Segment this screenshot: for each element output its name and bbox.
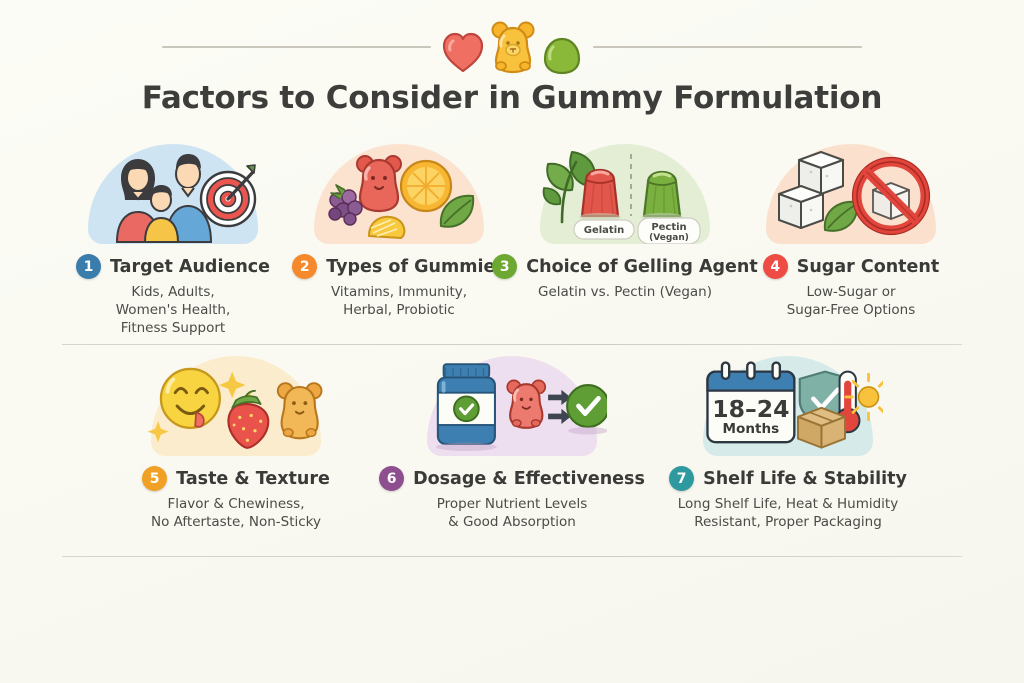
factor-card-6[interactable]: 6 Dosage & Effectiveness Proper Nutrient… — [374, 352, 650, 532]
factor-title-2: Types of Gummies — [326, 257, 505, 277]
taste-texture-illustration — [141, 352, 331, 456]
factor-badge-4: 4 — [763, 254, 788, 279]
header-icon-group — [441, 18, 583, 76]
factor-badge-6: 6 — [379, 466, 404, 491]
factor-row-1: 1 Target Audience Kids, Adults, Women's … — [60, 140, 964, 337]
sugar-content-icon — [765, 144, 937, 244]
sugar-cubes-no-sugar-illustration — [756, 140, 946, 244]
family-target-illustration — [78, 140, 268, 244]
family-target-icon — [87, 144, 259, 244]
header-decoration — [162, 18, 862, 76]
factor-desc-4: Low-Sugar or Sugar-Free Options — [787, 284, 916, 320]
factor-desc-1: Kids, Adults, Women's Health, Fitness Su… — [116, 284, 231, 337]
taste-texture-icon — [141, 356, 331, 456]
header: Factors to Consider in Gummy Formulation — [0, 18, 1024, 116]
shelf-life-illustration: 18–24 Months — [693, 352, 883, 456]
factor-headline-1: 1 Target Audience — [76, 254, 270, 279]
factor-card-5[interactable]: 5 Taste & Texture Flavor & Chewiness, No… — [98, 352, 374, 532]
factor-title-4: Sugar Content — [797, 257, 940, 277]
factor-headline-6: 6 Dosage & Effectiveness — [379, 466, 645, 491]
shelf-life-stability-icon: 18–24 Months — [693, 356, 883, 456]
fruit-gummy-illustration — [304, 140, 494, 244]
factor-card-1[interactable]: 1 Target Audience Kids, Adults, Women's … — [60, 140, 286, 337]
factor-card-2[interactable]: 2 Types of Gummies Vitamins, Immunity, H… — [286, 140, 512, 337]
factor-badge-3: 3 — [492, 254, 517, 279]
gelatin-pectin-icon: Gelatin Pectin (Vegan) — [530, 144, 720, 244]
dosage-bottle-illustration — [417, 352, 607, 456]
factor-headline-2: 2 Types of Gummies — [292, 254, 505, 279]
heart-icon — [441, 30, 485, 76]
factor-badge-5: 5 — [142, 466, 167, 491]
gummy-drop-icon — [541, 36, 583, 76]
factor-headline-5: 5 Taste & Texture — [142, 466, 330, 491]
factor-desc-7: Long Shelf Life, Heat & Humidity Resista… — [678, 496, 898, 532]
factor-desc-3: Gelatin vs. Pectin (Vegan) — [538, 284, 712, 302]
factor-title-7: Shelf Life & Stability — [703, 469, 907, 489]
gelatin-label: Gelatin — [584, 225, 625, 236]
factor-title-6: Dosage & Effectiveness — [413, 469, 645, 489]
infographic-page: Factors to Consider in Gummy Formulation — [0, 0, 1024, 683]
gummy-bear-icon — [487, 20, 539, 76]
factor-badge-7: 7 — [669, 466, 694, 491]
factor-headline-3: 3 Choice of Gelling Agent — [492, 254, 757, 279]
page-title: Factors to Consider in Gummy Formulation — [142, 80, 883, 116]
factor-title-1: Target Audience — [110, 257, 270, 277]
shelf-life-months-value: 18–24 — [712, 395, 789, 423]
factor-title-3: Choice of Gelling Agent — [526, 257, 757, 277]
factor-card-4[interactable]: 4 Sugar Content Low-Sugar or Sugar-Free … — [738, 140, 964, 337]
divider-middle — [62, 344, 962, 345]
factor-desc-6: Proper Nutrient Levels & Good Absorption — [437, 496, 588, 532]
factor-desc-5: Flavor & Chewiness, No Aftertaste, Non-S… — [151, 496, 321, 532]
gelatin-pectin-illustration: Gelatin Pectin (Vegan) — [530, 140, 720, 244]
fruit-gummy-icon — [313, 144, 485, 244]
shelf-life-months-unit: Months — [723, 421, 780, 437]
factor-card-3[interactable]: Gelatin Pectin (Vegan) 3 Choice of Gelli… — [512, 140, 738, 337]
factor-card-7[interactable]: 18–24 Months — [650, 352, 926, 532]
factor-badge-1: 1 — [76, 254, 101, 279]
factor-row-2: 5 Taste & Texture Flavor & Chewiness, No… — [60, 352, 964, 532]
pectin-label: Pectin — [651, 222, 686, 233]
factor-headline-4: 4 Sugar Content — [763, 254, 940, 279]
header-rule-left — [162, 46, 431, 48]
pectin-vegan-label: (Vegan) — [649, 233, 689, 243]
factor-desc-2: Vitamins, Immunity, Herbal, Probiotic — [331, 284, 467, 320]
factor-badge-2: 2 — [292, 254, 317, 279]
factor-headline-7: 7 Shelf Life & Stability — [669, 466, 907, 491]
factor-title-5: Taste & Texture — [176, 469, 330, 489]
header-rule-right — [593, 46, 862, 48]
dosage-effectiveness-icon — [417, 356, 607, 456]
divider-bottom — [62, 556, 962, 557]
